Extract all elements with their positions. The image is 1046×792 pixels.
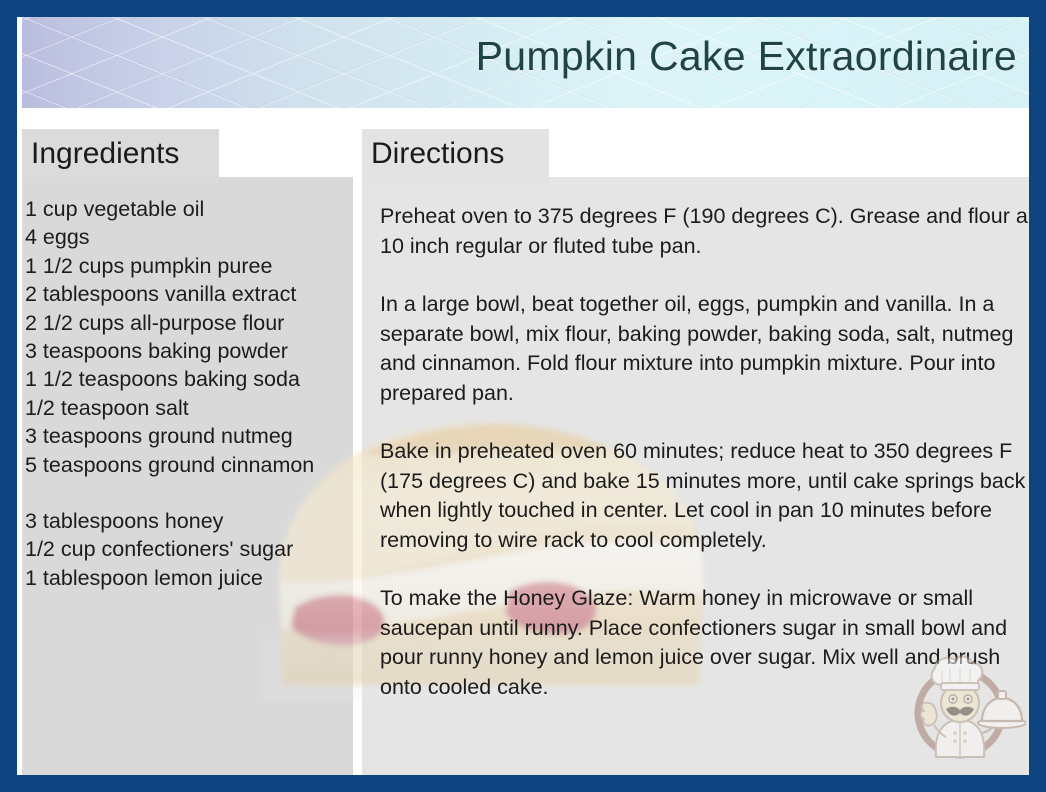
directions-heading: Directions [362,129,549,183]
list-item: 3 teaspoons baking powder [25,337,350,365]
list-item: 1 cup vegetable oil [25,195,350,223]
list-item: 2 1/2 cups all-purpose flour [25,309,350,337]
list-item: 3 teaspoons ground nutmeg [25,422,350,450]
directions-paragraph: Bake in preheated oven 60 minutes; reduc… [380,437,1035,555]
list-item: 3 tablespoons honey [25,507,350,535]
list-item: 1 1/2 teaspoons baking soda [25,365,350,393]
directions-text: Preheat oven to 375 degrees F (190 degre… [380,202,1040,702]
list-item: 1/2 teaspoon salt [25,394,350,422]
directions-paragraph: In a large bowl, beat together oil, eggs… [380,290,1035,408]
list-spacer [25,479,350,507]
list-item: 1 tablespoon lemon juice [25,564,350,592]
page-title: Pumpkin Cake Extraordinaire [476,33,1017,80]
list-item: 5 teaspoons ground cinnamon [25,451,350,479]
directions-paragraph: Preheat oven to 375 degrees F (190 degre… [380,202,1035,261]
ingredients-heading: Ingredients [22,129,219,183]
list-item: 1/2 cup confectioners' sugar [25,535,350,563]
list-item: 1 1/2 cups pumpkin puree [25,252,350,280]
list-item: 4 eggs [25,223,350,251]
list-item: 2 tablespoons vanilla extract [25,280,350,308]
ingredients-list: 1 cup vegetable oil 4 eggs 1 1/2 cups pu… [25,195,350,592]
chef-with-cloche-logo [898,641,1026,769]
recipe-slide: Pumpkin Cake Extraordinaire Ingredients … [0,0,1046,792]
